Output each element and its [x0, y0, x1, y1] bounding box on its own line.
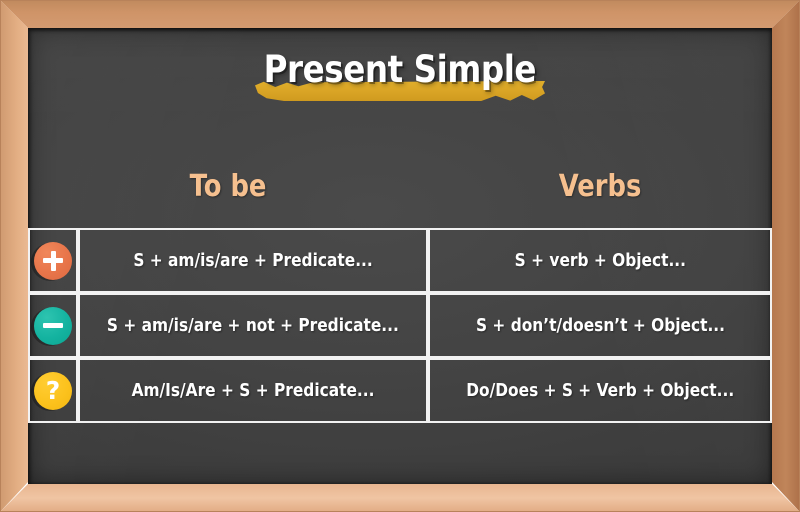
row-badge-cell	[28, 293, 78, 358]
minus-glyph	[43, 316, 63, 336]
cell-to-be: S + am/is/are + Predicate...	[78, 228, 428, 293]
cell-verbs: Do/Does + S + Verb + Object...	[428, 358, 772, 423]
cell-to-be: S + am/is/are + not + Predicate...	[78, 293, 428, 358]
row-badge-cell: ?	[28, 358, 78, 423]
cell-to-be: Am/Is/Are + S + Predicate...	[78, 358, 428, 423]
frame-rail-top	[0, 0, 800, 28]
grammar-table: S + am/is/are + Predicate... S + verb + …	[28, 228, 772, 423]
cell-verbs: S + verb + Object...	[428, 228, 772, 293]
table-row: S + am/is/are + not + Predicate... S + d…	[28, 293, 772, 358]
column-header-to-be: To be	[56, 158, 400, 214]
cell-text: S + am/is/are + Predicate...	[133, 251, 372, 271]
badge-disc	[34, 307, 72, 345]
page-title: Present Simple	[264, 48, 536, 91]
minus-icon	[34, 307, 72, 345]
plus-glyph	[43, 251, 63, 271]
question-icon: ?	[34, 372, 72, 410]
column-headers: To be Verbs	[28, 158, 772, 214]
table-row: ? Am/Is/Are + S + Predicate... Do/Does +…	[28, 358, 772, 423]
cell-text: Do/Does + S + Verb + Object...	[466, 381, 734, 401]
table-row: S + am/is/are + Predicate... S + verb + …	[28, 228, 772, 293]
chalkboard-poster: Present Simple To be Verbs S + am/is/are…	[0, 0, 800, 512]
cell-text: Am/Is/Are + S + Predicate...	[132, 381, 375, 401]
frame-rail-bottom	[0, 484, 800, 512]
cell-text: S + am/is/are + not + Predicate...	[107, 316, 399, 336]
title-area: Present Simple	[0, 36, 800, 102]
question-glyph: ?	[46, 378, 61, 403]
plus-icon	[34, 242, 72, 280]
cell-verbs: S + don’t/doesn’t + Object...	[428, 293, 772, 358]
cell-text: S + verb + Object...	[514, 251, 685, 271]
column-header-verbs: Verbs	[452, 158, 748, 214]
row-badge-cell	[28, 228, 78, 293]
badge-disc	[34, 242, 72, 280]
badge-disc: ?	[34, 372, 72, 410]
cell-text: S + don’t/doesn’t + Object...	[475, 316, 724, 336]
